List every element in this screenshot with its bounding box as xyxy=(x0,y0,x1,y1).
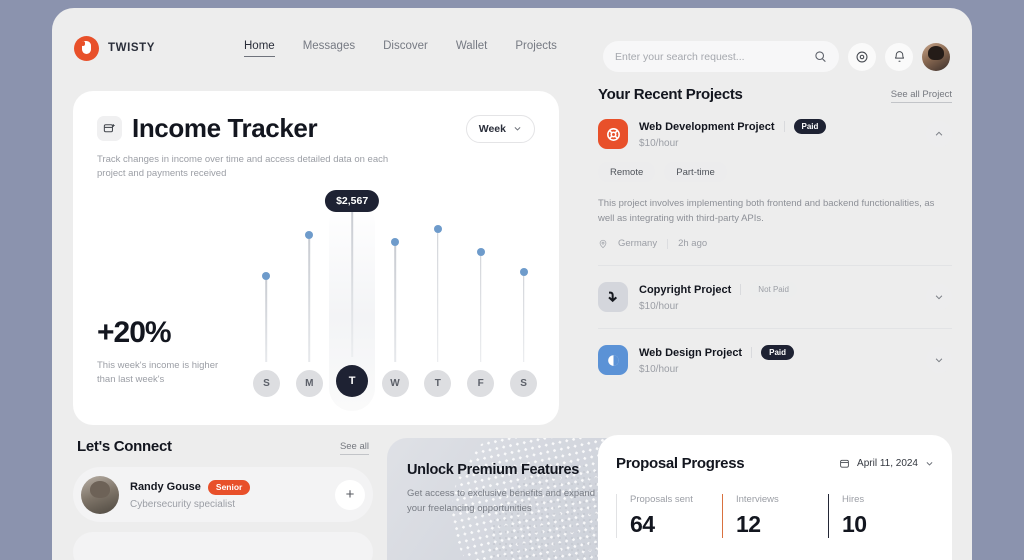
table-row[interactable]: Copyright Project Not Paid $10/hour xyxy=(598,282,952,312)
status-badge: Paid xyxy=(761,345,794,360)
chart-stem xyxy=(308,239,310,362)
nav-item-wallet[interactable]: Wallet xyxy=(456,40,488,57)
proposal-progress-card: Proposal Progress April 11, 2024 Proposa… xyxy=(598,435,952,560)
period-label: Week xyxy=(479,123,506,135)
project-name: Web Design Project xyxy=(639,347,742,359)
premium-subtitle: Get access to exclusive benefits and exp… xyxy=(407,487,602,516)
list-item-placeholder[interactable] xyxy=(73,532,373,560)
list-item[interactable]: Randy Gouse Senior Cybersecurity special… xyxy=(73,467,373,522)
calendar-icon xyxy=(839,458,850,469)
location-pin-icon xyxy=(598,239,608,249)
project-icon-copyright xyxy=(598,282,628,312)
divider xyxy=(751,347,752,358)
brand-logo[interactable]: TWISTY xyxy=(74,36,214,61)
chart-column-5[interactable]: F xyxy=(458,201,504,411)
notifications-button[interactable] xyxy=(885,43,913,71)
premium-promo-card[interactable]: Unlock Premium Features Get access to ex… xyxy=(387,438,631,560)
chart-column-4[interactable]: T xyxy=(415,201,461,411)
chart-stem xyxy=(351,212,353,357)
income-change-caption: This week's income is higher than last w… xyxy=(97,359,237,388)
project-meta: Germany 2h ago xyxy=(598,238,952,249)
chart-day-label-f-5[interactable]: F xyxy=(467,370,494,397)
proposal-progress-title: Proposal Progress xyxy=(616,455,744,472)
nav-item-discover[interactable]: Discover xyxy=(383,40,428,57)
stat-interviews: Interviews 12 xyxy=(722,494,828,538)
chart-day-label-s-0[interactable]: S xyxy=(253,370,280,397)
avatar xyxy=(81,476,119,514)
chart-day-label-w-3[interactable]: W xyxy=(382,370,409,397)
lifebuoy-icon xyxy=(605,126,622,143)
see-all-projects-link[interactable]: See all Project xyxy=(891,89,952,103)
chart-stem-wrap xyxy=(372,201,418,370)
project-name: Copyright Project xyxy=(639,284,731,296)
chevron-down-icon xyxy=(934,292,944,302)
income-stat: +20% This week's income is higher than l… xyxy=(97,316,237,388)
status-badge: Not Paid xyxy=(750,282,797,297)
nav-links: Home Messages Discover Wallet Projects xyxy=(244,40,557,57)
stat-value: 12 xyxy=(736,511,828,538)
nav-right-controls xyxy=(603,41,950,72)
chart-data-point[interactable] xyxy=(391,238,399,246)
page-title: Income Tracker xyxy=(132,113,317,144)
chart-stem xyxy=(480,256,482,362)
collapse-project-button[interactable] xyxy=(926,121,952,147)
top-navigation-bar: TWISTY Home Messages Discover Wallet Pro… xyxy=(52,8,972,88)
lets-connect-title: Let's Connect xyxy=(77,438,172,455)
chart-stem xyxy=(266,280,268,362)
nav-item-home[interactable]: Home xyxy=(244,40,275,57)
project-rate: $10/hour xyxy=(639,301,797,312)
add-connection-button[interactable]: + xyxy=(335,480,365,510)
stat-value: 64 xyxy=(630,511,722,538)
person-role: Cybersecurity specialist xyxy=(130,499,250,510)
income-change-value: +20% xyxy=(97,316,237,350)
person-name: Randy Gouse xyxy=(130,481,201,493)
table-row[interactable]: Web Development Project Paid $10/hour Re… xyxy=(598,119,952,249)
stat-label: Hires xyxy=(842,494,934,505)
recent-projects-title: Your Recent Projects xyxy=(598,86,743,103)
stat-value: 10 xyxy=(842,511,934,538)
chevron-down-icon xyxy=(934,355,944,365)
project-time: 2h ago xyxy=(678,238,707,249)
income-chart: SM$2,567TWTFS xyxy=(245,201,545,411)
tag-remote[interactable]: Remote xyxy=(598,162,655,182)
project-rate: $10/hour xyxy=(639,364,794,375)
app-window: TWISTY Home Messages Discover Wallet Pro… xyxy=(52,8,972,560)
chart-day-label-s-6[interactable]: S xyxy=(510,370,537,397)
income-tracker-subtitle: Track changes in income over time and ac… xyxy=(97,153,407,182)
project-location: Germany xyxy=(618,238,657,249)
chart-stem-wrap: $2,567 xyxy=(329,201,375,365)
project-icon-web-design xyxy=(598,345,628,375)
period-selector[interactable]: Week xyxy=(466,115,535,143)
project-icon-web-development xyxy=(598,119,628,149)
divider xyxy=(784,121,785,132)
chevron-down-icon xyxy=(925,459,934,468)
stat-label: Interviews xyxy=(736,494,828,505)
status-badge: Senior xyxy=(208,480,250,495)
brand-name: TWISTY xyxy=(108,42,155,54)
tag-part-time[interactable]: Part-time xyxy=(664,162,727,182)
chart-stem xyxy=(437,233,439,362)
search-box[interactable] xyxy=(603,41,839,72)
income-card-icon xyxy=(97,116,122,141)
search-icon[interactable] xyxy=(814,50,827,63)
chart-stem xyxy=(523,276,525,362)
divider xyxy=(667,239,668,249)
table-row[interactable]: Web Design Project Paid $10/hour xyxy=(598,345,952,375)
proposal-date: April 11, 2024 xyxy=(857,458,918,469)
premium-title: Unlock Premium Features xyxy=(407,462,611,478)
divider xyxy=(598,328,952,329)
nav-item-projects[interactable]: Projects xyxy=(515,40,557,57)
chart-column-0[interactable]: S xyxy=(243,201,289,411)
project-name: Web Development Project xyxy=(639,121,775,133)
gear-icon xyxy=(855,50,869,64)
search-input[interactable] xyxy=(615,51,814,63)
chart-data-point[interactable] xyxy=(434,225,442,233)
settings-button[interactable] xyxy=(848,43,876,71)
project-description: This project involves implementing both … xyxy=(598,196,952,226)
chart-column-6[interactable]: S xyxy=(501,201,547,411)
chevron-up-icon xyxy=(934,129,944,139)
chart-stem xyxy=(394,246,396,362)
stat-label: Proposals sent xyxy=(630,494,722,505)
chart-column-3[interactable]: W xyxy=(372,201,418,411)
chart-stem-wrap xyxy=(286,201,332,370)
date-selector[interactable]: April 11, 2024 xyxy=(839,458,934,469)
expand-project-button[interactable] xyxy=(926,284,952,310)
arrow-down-icon xyxy=(605,289,621,305)
chart-data-point[interactable] xyxy=(477,248,485,256)
project-rate: $10/hour xyxy=(639,138,826,149)
chart-day-label-m-1[interactable]: M xyxy=(296,370,323,397)
chart-data-point[interactable] xyxy=(262,272,270,280)
stat-proposals-sent: Proposals sent 64 xyxy=(616,494,722,538)
chart-day-label-t-2[interactable]: T xyxy=(336,365,368,397)
chevron-down-icon xyxy=(513,124,522,133)
lets-connect-section: Let's Connect See all Randy Gouse Senior… xyxy=(73,438,373,560)
twisty-logo-icon xyxy=(74,36,99,61)
bell-icon xyxy=(893,50,906,63)
chart-stem-wrap xyxy=(458,201,504,370)
income-tracker-card: Income Tracker Week Track changes in inc… xyxy=(73,91,559,425)
chart-data-point[interactable] xyxy=(520,268,528,276)
stat-hires: Hires 10 xyxy=(828,494,934,538)
card-add-icon xyxy=(103,122,116,135)
expand-project-button[interactable] xyxy=(926,347,952,373)
chart-column-1[interactable]: M xyxy=(286,201,332,411)
moon-contrast-icon xyxy=(605,352,622,369)
chart-day-label-t-4[interactable]: T xyxy=(424,370,451,397)
chart-data-point[interactable] xyxy=(305,231,313,239)
divider xyxy=(740,284,741,295)
user-avatar[interactable] xyxy=(922,43,950,71)
connect-see-all-link[interactable]: See all xyxy=(340,441,369,455)
recent-projects-section: Your Recent Projects See all Project xyxy=(598,86,952,375)
chart-column-2[interactable]: $2,567T xyxy=(329,201,375,411)
nav-item-messages[interactable]: Messages xyxy=(303,40,355,57)
status-badge: Paid xyxy=(794,119,827,134)
divider xyxy=(598,265,952,266)
project-tags: Remote Part-time xyxy=(598,162,952,182)
chart-stem-wrap xyxy=(501,201,547,370)
chart-stem-wrap xyxy=(243,201,289,370)
chart-stem-wrap xyxy=(415,201,461,370)
income-tracker-header: Income Tracker Week Track changes in inc… xyxy=(73,91,559,182)
